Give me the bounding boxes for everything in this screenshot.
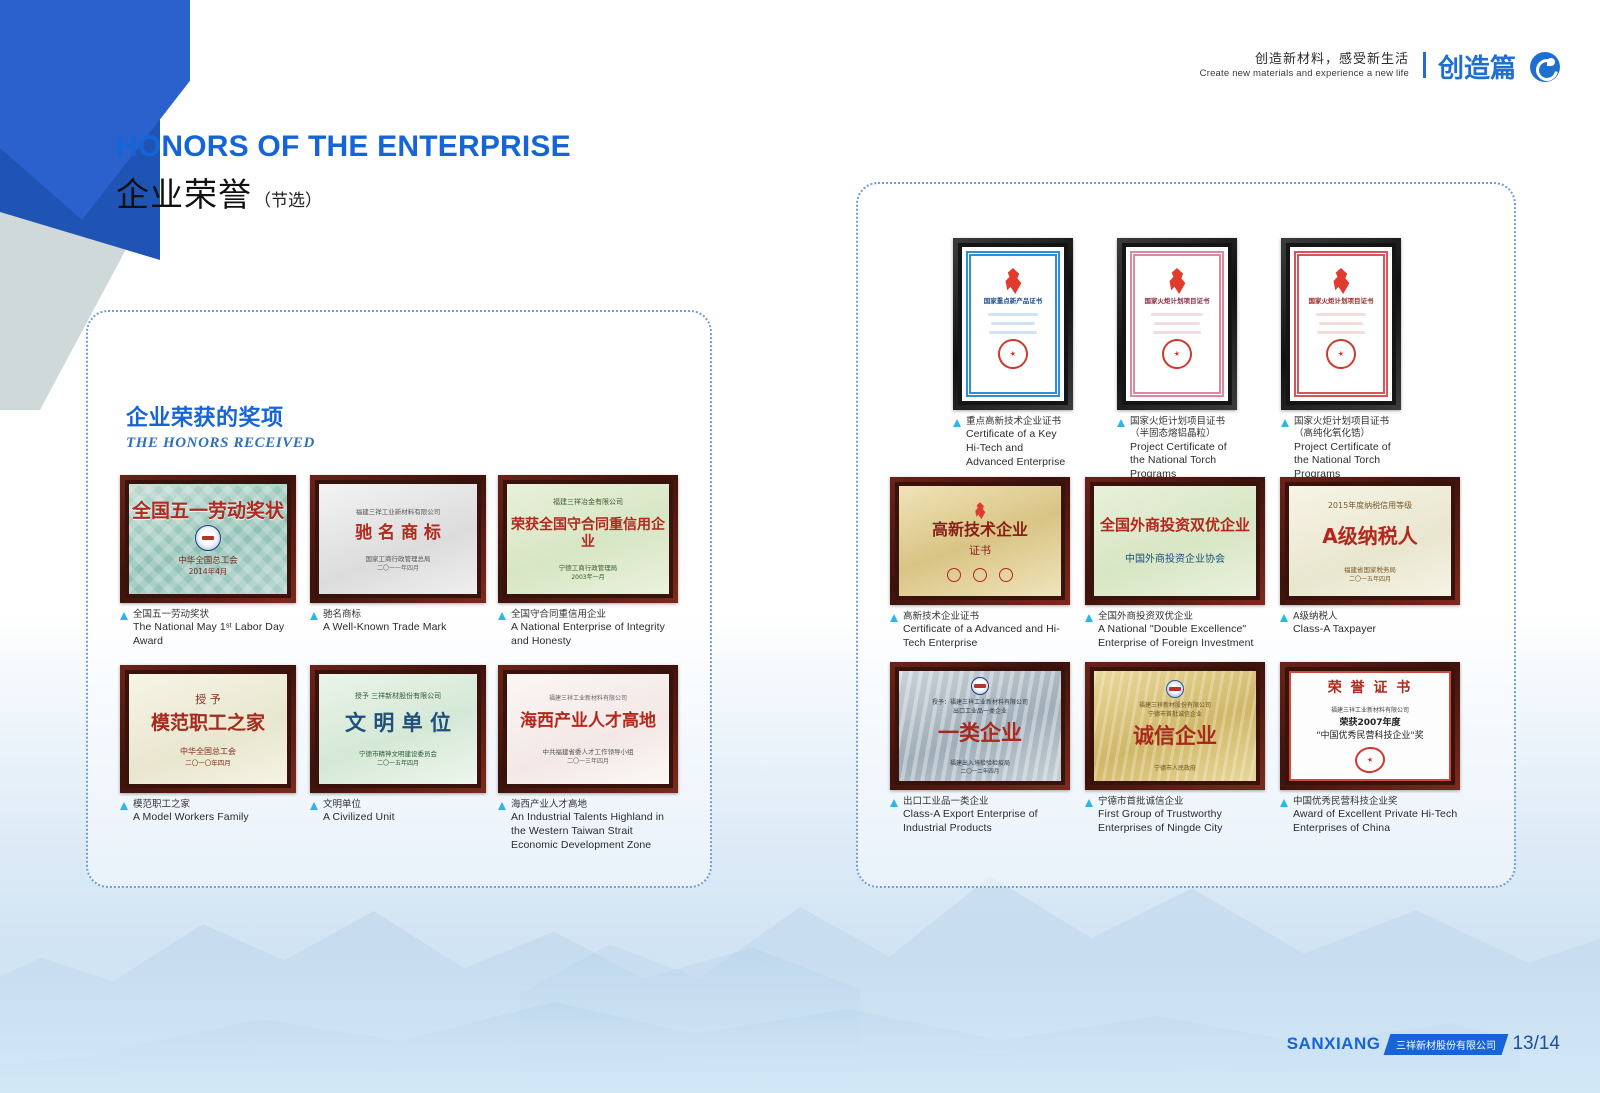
certificate-frame: 高新技术企业 证书 (890, 477, 1070, 605)
certificate-image: 授 予 模范职工之家 中华全国总工会 二〇一〇年四月 (129, 674, 287, 784)
caption-cn: 重点高新技术企业证书 (966, 416, 1073, 428)
triangle-bullet-icon (120, 612, 128, 620)
plate-top-text: 荣 誉 证 书 (1328, 677, 1413, 697)
caption-cn: 中国优秀民营科技企业奖 (1293, 796, 1460, 808)
torch-flame-icon (1330, 268, 1352, 294)
plate-subtitle: "中国优秀民营科技企业"奖 (1316, 728, 1423, 741)
official-seal-icon (973, 568, 987, 582)
certificate-item[interactable]: 授 予 模范职工之家 中华全国总工会 二〇一〇年四月 模范职工之家 A Mode… (120, 665, 296, 825)
certificate-frame: 全国外商投资双优企业 中国外商投资企业协会 (1085, 477, 1265, 605)
caption-en: Certificate of a Key Hi-Tech and Advance… (966, 428, 1073, 469)
certificate-item[interactable]: 授予 三祥新材股份有限公司 文 明 单 位 宁德市精神文明建设委员会 二〇一五年… (310, 665, 486, 825)
plate-subtitle: 国家工商行政管理总局 (366, 553, 431, 563)
caption-en: Certificate of a Advanced and Hi-Tech En… (903, 623, 1070, 650)
caption-cn: A级纳税人 (1293, 611, 1376, 623)
certificate-image: 福建三祥工业新材料有限公司 海西产业人才高地 中共福建省委人才工作领导小组 二〇… (507, 674, 669, 784)
text-line (1317, 331, 1365, 334)
certificate-image: 全国五一劳动奖状 中华全国总工会 2014年4月 (129, 484, 287, 594)
certificate-image: 授予：福建三祥工业新材料有限公司 出口工业品一类企业 一类企业 福建出入境检验检… (899, 671, 1061, 781)
header-divider-bar (1423, 52, 1426, 78)
triangle-bullet-icon (498, 802, 506, 810)
certificate-frame: 福建三祥新材股份有限公司 宁德市首批诚信企业 诚信企业 宁德市人民政府 (1085, 662, 1265, 790)
plate-date: 二〇一五年四月 (377, 758, 419, 767)
header-slogan: 创造新材料，感受新生活 Create new materials and exp… (1200, 52, 1409, 80)
triangle-bullet-icon (890, 614, 898, 622)
plate-subtitle: 中华全国总工会 (178, 554, 238, 566)
header-slogan-en: Create new materials and experience a ne… (1200, 68, 1409, 80)
section-heading-en: THE HONORS RECEIVED (126, 435, 315, 452)
certificate-caption: 宁德市首批诚信企业 First Group of Trustworthy Ent… (1085, 796, 1265, 836)
caption-cn: 海西产业人才高地 (511, 799, 678, 811)
plate-date: 2003年一月 (571, 572, 604, 581)
certificate-frame: 福建三祥冶金有限公司 荣获全国守合同重信用企业 宁德工商行政管理局 2003年一… (498, 475, 678, 603)
official-seal-icon: ★ (1160, 338, 1194, 372)
caption-en: A Civilized Unit (323, 811, 395, 825)
triangle-bullet-icon (1280, 614, 1288, 622)
caption-cn: 宁德市首批诚信企业 (1098, 796, 1265, 808)
caption-cn: 出口工业品一类企业 (903, 796, 1070, 808)
text-line (1316, 313, 1366, 316)
plate-top-text: 授 予 (195, 691, 221, 707)
plate-date: 二〇一一年四月 (377, 563, 419, 572)
certificate-item[interactable]: 授予：福建三祥工业新材料有限公司 出口工业品一类企业 一类企业 福建出入境检验检… (890, 662, 1070, 836)
plate-title: 模范职工之家 (151, 713, 265, 735)
certificate-frame: 福建三祥工业新材料有限公司 驰 名 商 标 国家工商行政管理总局 二〇一一年四月 (310, 475, 486, 603)
plate-subtitle: 福建省国家税务局 (1344, 564, 1396, 574)
caption-cn: 模范职工之家 (133, 799, 249, 811)
text-line (1319, 322, 1364, 325)
certificate-item[interactable]: 高新技术企业 证书 高新技术企业证书 Certificate of a Adva… (890, 477, 1070, 651)
caption-cn: 高新技术企业证书 (903, 611, 1070, 623)
plate-subtitle: 中华全国总工会 (180, 746, 236, 757)
triangle-bullet-icon (890, 799, 898, 807)
certificate-frame: 授予 三祥新材股份有限公司 文 明 单 位 宁德市精神文明建设委员会 二〇一五年… (310, 665, 486, 793)
certificate-frame: 福建三祥工业新材料有限公司 海西产业人才高地 中共福建省委人才工作领导小组 二〇… (498, 665, 678, 793)
certificate-frame: 授予：福建三祥工业新材料有限公司 出口工业品一类企业 一类企业 福建出入境检验检… (890, 662, 1070, 790)
triangle-bullet-icon (1117, 419, 1125, 427)
certificate-image: 福建三祥冶金有限公司 荣获全国守合同重信用企业 宁德工商行政管理局 2003年一… (507, 484, 669, 594)
certificate-item[interactable]: 福建三祥工业新材料有限公司 驰 名 商 标 国家工商行政管理总局 二〇一一年四月… (310, 475, 486, 635)
triangle-bullet-icon (310, 802, 318, 810)
certificate-caption: 海西产业人才高地 An Industrial Talents Highland … (498, 799, 678, 852)
caption-en: The National May 1ˢᵗ Labor Day Award (133, 621, 296, 648)
certificate-frame: 国家重点新产品证书 ★ (953, 238, 1073, 410)
plate-secondary-text: 宁德市首批诚信企业 (1148, 709, 1202, 718)
caption-en: Class-A Export Enterprise of Industrial … (903, 808, 1070, 835)
footer-company-name: 三祥新材股份有限公司 (1396, 1037, 1496, 1052)
certificate-caption: 全国外商投资双优企业 A National "Double Excellence… (1085, 611, 1265, 651)
text-line (989, 331, 1037, 334)
certificate-caption: 模范职工之家 A Model Workers Family (120, 799, 296, 825)
certificate-frame: 授 予 模范职工之家 中华全国总工会 二〇一〇年四月 (120, 665, 296, 793)
plate-title: 驰 名 商 标 (355, 524, 441, 544)
certificate-item[interactable]: 福建三祥工业新材料有限公司 海西产业人才高地 中共福建省委人才工作领导小组 二〇… (498, 665, 678, 852)
certificate-image: 荣 誉 证 书 福建三祥工业新材料有限公司 荣获2007年度 "中国优秀民营科技… (1289, 671, 1451, 781)
certificate-caption: 国家火炬计划项目证书 （高纯化氧化锆） Project Certificate … (1281, 416, 1401, 482)
caption-cn: 驰名商标 (323, 609, 447, 621)
certificate-item[interactable]: 国家重点新产品证书 ★ 重点高新技术企业证书 Certificate of a … (953, 238, 1073, 469)
certificate-inner-border: 国家火炬计划项目证书 ★ (1130, 251, 1224, 397)
caption-cn-secondary: （高纯化氧化锆） (1294, 428, 1401, 440)
caption-en: Award of Excellent Private Hi-Tech Enter… (1293, 808, 1460, 835)
seal-row (947, 568, 1013, 582)
torch-flame-icon (1002, 268, 1024, 294)
text-line (988, 313, 1038, 316)
certificate-frame: 国家火炬计划项目证书 ★ (1117, 238, 1237, 410)
caption-en: Project Certificate of the National Torc… (1294, 441, 1401, 482)
page-title-cn: 企业荣誉 (116, 168, 252, 216)
caption-en: An Industrial Talents Highland in the We… (511, 811, 678, 852)
plate-top-text: 福建三祥冶金有限公司 (553, 497, 623, 507)
national-emblem-icon (971, 677, 989, 695)
plate-title: 国家重点新产品证书 (984, 298, 1043, 305)
national-emblem-icon (195, 525, 221, 551)
certificate-caption: 文明单位 A Civilized Unit (310, 799, 486, 825)
triangle-bullet-icon (1085, 614, 1093, 622)
torch-flame-icon (1166, 268, 1188, 294)
certificate-item[interactable]: 国家火炬计划项目证书 ★ 国家火炬计划项目证书 （高纯化氧化锆） Project… (1281, 238, 1401, 482)
certificate-item[interactable]: 国家火炬计划项目证书 ★ 国家火炬计划项目证书 （半固态熔铝晶粒） Projec… (1117, 238, 1237, 482)
official-seal-icon (947, 568, 961, 582)
plate-title: 国家火炬计划项目证书 (1145, 298, 1210, 305)
plate-date: 二〇一〇年四月 (185, 757, 231, 767)
certificate-item[interactable]: 荣 誉 证 书 福建三祥工业新材料有限公司 荣获2007年度 "中国优秀民营科技… (1280, 662, 1460, 836)
text-line (1154, 322, 1200, 325)
plate-subtitle: 宁德市精神文明建设委员会 (359, 748, 437, 758)
triangle-bullet-icon (953, 419, 961, 427)
caption-cn: 全国五一劳动奖状 (133, 609, 296, 621)
page-title: HONORS OF THE ENTERPRISE 企业荣誉 （节选） (116, 130, 571, 216)
certificate-caption: 出口工业品一类企业 Class-A Export Enterprise of I… (890, 796, 1070, 836)
plate-date: 二〇一五年四月 (1349, 574, 1391, 583)
plate-top-text: 授予 三祥新材股份有限公司 (355, 691, 441, 701)
certificate-frame: 2015年度纳税信用等级 A级纳税人 福建省国家税务局 二〇一五年四月 (1280, 477, 1460, 605)
certificate-caption: 全国守合同重信用企业 A National Enterprise of Inte… (498, 609, 678, 649)
footer-brand: SANXIANG (1287, 1034, 1381, 1054)
caption-en: A Well-Known Trade Mark (323, 621, 447, 635)
certificate-item[interactable]: 全国外商投资双优企业 中国外商投资企业协会 全国外商投资双优企业 A Natio… (1085, 477, 1265, 651)
triangle-bullet-icon (1085, 799, 1093, 807)
page-header: 创造新材料，感受新生活 Create new materials and exp… (1200, 52, 1560, 80)
certificate-item[interactable]: 2015年度纳税信用等级 A级纳税人 福建省国家税务局 二〇一五年四月 A级纳税… (1280, 477, 1460, 637)
certificate-caption: 全国五一劳动奖状 The National May 1ˢᵗ Labor Day … (120, 609, 296, 649)
caption-en: Class-A Taxpayer (1293, 623, 1376, 637)
certificate-caption: A级纳税人 Class-A Taxpayer (1280, 611, 1460, 637)
caption-en: Project Certificate of the National Torc… (1130, 441, 1237, 482)
city-emblem-icon (1166, 680, 1184, 698)
certificate-item[interactable]: 福建三祥冶金有限公司 荣获全国守合同重信用企业 宁德工商行政管理局 2003年一… (498, 475, 678, 649)
certificate-image: 国家重点新产品证书 ★ (962, 247, 1064, 401)
certificate-inner-border: 国家火炬计划项目证书 ★ (1294, 251, 1388, 397)
plate-title: 全国外商投资双优企业 (1100, 517, 1250, 534)
header-section-label: 创造篇 (1438, 56, 1516, 82)
page-number: 13/14 (1512, 1033, 1560, 1055)
page-footer: SANXIANG 三祥新材股份有限公司 13/14 (1287, 1033, 1560, 1055)
triangle-bullet-icon (120, 802, 128, 810)
certificate-caption: 高新技术企业证书 Certificate of a Advanced and H… (890, 611, 1070, 651)
certificate-frame: 全国五一劳动奖状 中华全国总工会 2014年4月 (120, 475, 296, 603)
caption-cn: 国家火炬计划项目证书 (1130, 416, 1237, 428)
official-seal-icon: ★ (1324, 338, 1358, 372)
plate-date: 二〇一二年四月 (961, 767, 1000, 775)
plate-subtitle: 证书 (969, 542, 991, 558)
triangle-bullet-icon (498, 612, 506, 620)
plate-title: 全国五一劳动奖状 (132, 501, 284, 523)
plate-title: 国家火炬计划项目证书 (1309, 298, 1374, 305)
certificate-image: 福建三祥新材股份有限公司 宁德市首批诚信企业 诚信企业 宁德市人民政府 (1094, 671, 1256, 781)
caption-cn: 全国外商投资双优企业 (1098, 611, 1265, 623)
plate-top-text: 福建三祥新材股份有限公司 (1139, 700, 1211, 709)
certificate-caption: 驰名商标 A Well-Known Trade Mark (310, 609, 486, 635)
certificate-image: 全国外商投资双优企业 中国外商投资企业协会 (1094, 486, 1256, 596)
plate-subtitle: 中国外商投资企业协会 (1125, 550, 1225, 565)
plate-subtitle: 宁德工商行政管理局 (559, 562, 618, 572)
text-line (1151, 313, 1203, 316)
plate-title: 高新技术企业 (932, 521, 1028, 539)
plate-date: 二〇一三年四月 (567, 756, 609, 765)
plate-subtitle: 宁德市人民政府 (1154, 763, 1196, 772)
certificate-image: 2015年度纳税信用等级 A级纳税人 福建省国家税务局 二〇一五年四月 (1289, 486, 1451, 596)
official-seal-icon (999, 568, 1013, 582)
text-line (991, 322, 1036, 325)
official-seal-icon: ★ (996, 338, 1030, 372)
certificate-caption: 中国优秀民营科技企业奖 Award of Excellent Private H… (1280, 796, 1460, 836)
caption-cn: 国家火炬计划项目证书 (1294, 416, 1401, 428)
footer-company-chip: 三祥新材股份有限公司 (1384, 1034, 1509, 1055)
globe-swirl-logo-icon (1530, 52, 1560, 82)
certificate-item[interactable]: 福建三祥新材股份有限公司 宁德市首批诚信企业 诚信企业 宁德市人民政府 宁德市首… (1085, 662, 1265, 836)
plate-top-text: 福建三祥工业新材料有限公司 (356, 506, 441, 516)
plate-title: 诚信企业 (1133, 724, 1217, 748)
mountain-haze (0, 943, 1600, 1093)
plate-subtitle: 福建出入境检验检疫局 (950, 758, 1010, 767)
plate-top-text: 2015年度纳税信用等级 (1328, 500, 1412, 511)
certificate-item[interactable]: 全国五一劳动奖状 中华全国总工会 2014年4月 全国五一劳动奖状 The Na… (120, 475, 296, 649)
certificate-caption: 国家火炬计划项目证书 （半固态熔铝晶粒） Project Certificate… (1117, 416, 1237, 482)
plate-date: 2014年4月 (189, 566, 228, 577)
torch-flame-icon (973, 502, 987, 519)
caption-en: A Model Workers Family (133, 811, 249, 825)
plate-title: 一类企业 (938, 721, 1022, 745)
caption-cn: 文明单位 (323, 799, 395, 811)
official-seal-icon: ★ (1353, 745, 1386, 775)
caption-cn: 全国守合同重信用企业 (511, 609, 678, 621)
certificate-image: 授予 三祥新材股份有限公司 文 明 单 位 宁德市精神文明建设委员会 二〇一五年… (319, 674, 477, 784)
plate-title: 荣获2007年度 (1339, 718, 1400, 728)
caption-cn-secondary: （半固态熔铝晶粒） (1130, 428, 1237, 440)
triangle-bullet-icon (1281, 419, 1289, 427)
triangle-bullet-icon (1280, 799, 1288, 807)
certificate-inner-border: 国家重点新产品证书 ★ (966, 251, 1060, 397)
plate-top-text: 福建三祥工业新材料有限公司 (549, 693, 627, 702)
plate-top-text: 授予：福建三祥工业新材料有限公司 (932, 697, 1028, 706)
plate-title: 文 明 单 位 (345, 711, 451, 735)
caption-en: First Group of Trustworthy Enterprises o… (1098, 808, 1265, 835)
page-title-en: HONORS OF THE ENTERPRISE (116, 130, 571, 164)
certificate-image: 国家火炬计划项目证书 ★ (1126, 247, 1228, 401)
certificate-image: 福建三祥工业新材料有限公司 驰 名 商 标 国家工商行政管理总局 二〇一一年四月 (319, 484, 477, 594)
certificate-image: 国家火炬计划项目证书 ★ (1290, 247, 1392, 401)
certificate-frame: 国家火炬计划项目证书 ★ (1281, 238, 1401, 410)
plate-title: 海西产业人才高地 (520, 712, 656, 732)
plate-secondary-text: 福建三祥工业新材料有限公司 (1331, 705, 1409, 714)
plate-title: A级纳税人 (1322, 525, 1417, 548)
certificate-frame: 荣 誉 证 书 福建三祥工业新材料有限公司 荣获2007年度 "中国优秀民营科技… (1280, 662, 1460, 790)
plate-secondary-text: 出口工业品一类企业 (953, 706, 1007, 715)
header-slogan-cn: 创造新材料，感受新生活 (1200, 52, 1409, 68)
plate-subtitle: 中共福建省委人才工作领导小组 (543, 746, 634, 756)
section-heading: 企业荣获的奖项 THE HONORS RECEIVED (126, 400, 315, 452)
certificate-caption: 重点高新技术企业证书 Certificate of a Key Hi-Tech … (953, 416, 1073, 469)
page-title-cn-sub: （节选） (254, 186, 322, 211)
certificate-image: 高新技术企业 证书 (899, 486, 1061, 596)
triangle-bullet-icon (310, 612, 318, 620)
caption-en: A National "Double Excellence" Enterpris… (1098, 623, 1265, 650)
caption-en: A National Enterprise of Integrity and H… (511, 621, 678, 648)
plate-title: 荣获全国守合同重信用企业 (507, 517, 669, 549)
text-line (1153, 331, 1202, 334)
section-heading-cn: 企业荣获的奖项 (126, 400, 315, 432)
